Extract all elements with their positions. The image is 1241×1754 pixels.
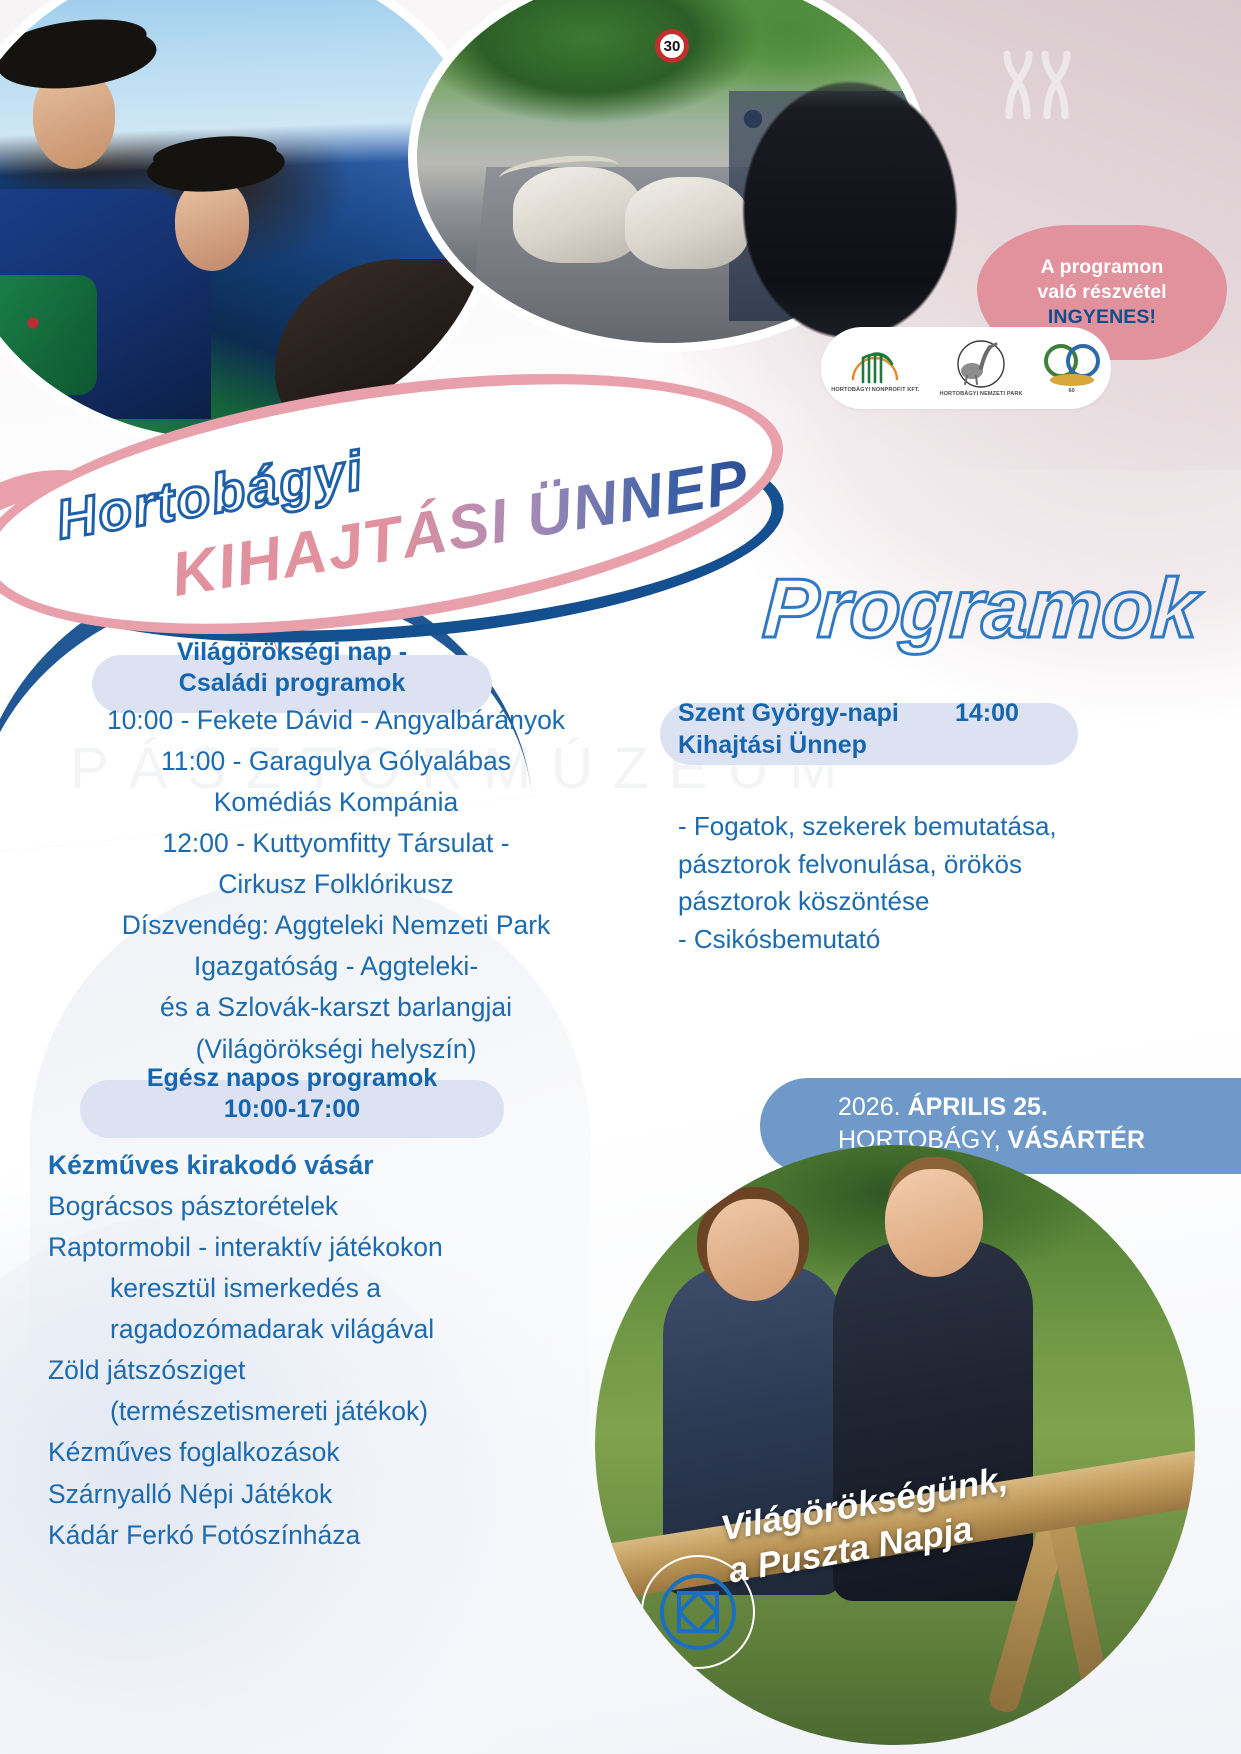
szent-gyorgy-list-text: - Fogatok, szekerek bemutatása, pásztoro… <box>678 811 1057 954</box>
logo-caption-nonprofit: HORTOBÁGYI NONPROFIT KFT. <box>831 387 919 394</box>
all-day-program-list: Kézműves kirakodó vásárBográcsos pásztor… <box>48 1145 568 1556</box>
all-day-program-item: Szárnyalló Népi Játékok <box>48 1474 568 1515</box>
hortobagyi-nonprofit-kft-logo: HORTOBÁGYI NONPROFIT KFT. <box>831 342 919 394</box>
all-day-heading-line1: Egész napos programok <box>80 1063 504 1094</box>
speed-limit-sign: 30 <box>655 29 689 63</box>
all-day-program-item: Kádár Ferkó Fotószínháza <box>48 1515 568 1556</box>
hortobagyi-nemzeti-park-logo: HORTOBÁGYI NEMZETI PARK <box>939 338 1022 398</box>
event-place-venue: VÁSÁRTÉR <box>1008 1126 1146 1154</box>
all-day-program-item: Zöld játszósziget <box>48 1350 568 1391</box>
sponsor-logo-strip: HORTOBÁGYI NONPROFIT KFT. HORTOBÁGYI NEM… <box>821 327 1111 409</box>
brand-mark-icon <box>999 48 1073 127</box>
all-day-program-item: keresztül ismerkedés a <box>48 1268 568 1309</box>
family-program-list: 10:00 - Fekete Dávid - Angyalbárányok 11… <box>46 700 626 1070</box>
szent-gyorgy-heading-line1: Szent György-napi <box>678 698 899 729</box>
all-day-program-item: Kézműves foglalkozások <box>48 1432 568 1473</box>
all-day-program-heading: Egész napos programok 10:00-17:00 <box>80 1063 504 1124</box>
logo-caption-sixty: 60 <box>1068 388 1074 395</box>
event-date-row: 2026. ÁPRILIS 25. <box>838 1091 1241 1124</box>
all-day-program-item: Bográcsos pásztorételek <box>48 1186 568 1227</box>
photo-detail-hat-back <box>145 137 287 197</box>
photo-detail-hat-front <box>0 19 160 96</box>
photo-children-on-wooden-bar: Világörökségünk, a Puszta Napja <box>595 1145 1195 1745</box>
photo-detail-wooden-leg-right <box>1044 1502 1111 1703</box>
all-day-program-item: Kézműves kirakodó vásár <box>48 1145 568 1186</box>
photo-detail-embroidery <box>0 275 97 395</box>
all-day-program-list-text: Kézműves kirakodó vásárBográcsos pásztor… <box>48 1145 568 1556</box>
event-date-year: 2026. <box>838 1093 901 1121</box>
free-badge-line1: A programon <box>1041 255 1164 280</box>
event-date-day: ÁPRILIS 25. <box>908 1093 1048 1121</box>
family-program-heading: Világörökségi nap - Családi programok <box>92 637 492 698</box>
logo-caption-nemzeti-park: HORTOBÁGYI NEMZETI PARK <box>939 391 1022 398</box>
free-badge-line3: INGYENES! <box>1048 305 1156 330</box>
photo-detail-face-back <box>175 179 249 271</box>
photo-detail-boy-head <box>885 1169 983 1277</box>
all-day-program-item: (természetismereti játékok) <box>48 1391 568 1432</box>
szent-gyorgy-time: 14:00 <box>955 698 1019 729</box>
szent-gyorgy-heading-line2: Kihajtási Ünnep <box>678 730 867 761</box>
all-day-program-item: Raptormobil - interaktív játékokon <box>48 1227 568 1268</box>
free-badge-line2: való részvétel <box>1037 280 1166 305</box>
poster-root: PÁSZTORMÚZEUM 30 A programon való részvé… <box>0 0 1241 1754</box>
all-day-program-item: ragadozómadarak világával <box>48 1309 568 1350</box>
family-program-list-text: 10:00 - Fekete Dávid - Angyalbárányok 11… <box>107 705 565 1064</box>
szent-gyorgy-list: - Fogatok, szekerek bemutatása, pásztoro… <box>678 808 1118 959</box>
section-heading-programok: Programok <box>760 560 1200 657</box>
photo-detail-girl-head <box>707 1199 799 1301</box>
sixty-years-anniversary-logo: 60 <box>1043 341 1101 395</box>
all-day-heading-line2: 10:00-17:00 <box>80 1094 504 1125</box>
